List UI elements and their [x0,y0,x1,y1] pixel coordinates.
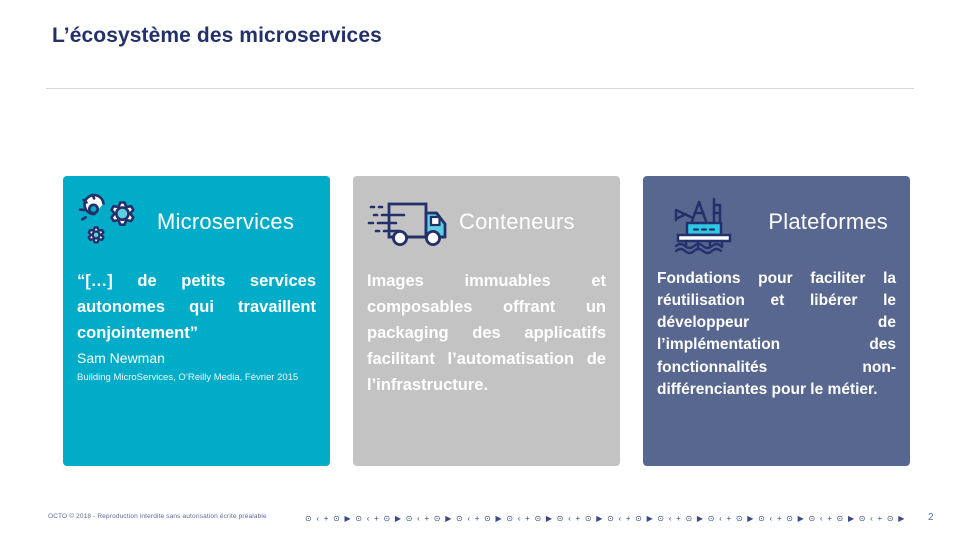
card-title-plateformes: Plateformes [768,209,888,235]
pattern-glyph: ▶ [848,515,854,523]
header-divider [46,88,914,89]
pattern-glyph: ▶ [647,515,653,523]
gears-icon [77,191,151,253]
pattern-glyph: + [727,515,732,523]
card-description: Fondations pour faciliter la réutilisati… [657,268,896,401]
pattern-glyph: ⊙ [534,515,541,523]
pattern-glyph: ‹ [417,515,420,523]
card-plateformes[interactable]: Plateformes Fondations pour faciliter la… [643,176,910,466]
pattern-glyph: ‹ [316,515,319,523]
pattern-glyph: ⊙ [333,515,340,523]
card-microservices[interactable]: Microservices “[…] de petits services au… [63,176,330,466]
page-number: 2 [928,512,934,523]
pattern-glyph: + [424,515,429,523]
pattern-glyph: ▶ [898,515,904,523]
pattern-glyph: + [525,515,530,523]
footer-decorative-pattern: ⊙‹+⊙▶⊙‹+⊙▶⊙‹+⊙▶⊙‹+⊙▶⊙‹+⊙▶⊙‹+⊙▶⊙‹+⊙▶⊙‹+⊙▶… [305,512,905,526]
pattern-glyph: ▶ [345,515,351,523]
footer-copyright: OCTO © 2018 - Reproduction interdite san… [48,513,267,520]
page-title: L’écosystème des microservices [52,24,382,48]
quote-text: “[…] de petits services autonomes qui tr… [77,268,316,346]
card-body: Images immuables et composables offrant … [353,268,620,398]
pattern-glyph: ‹ [467,515,470,523]
pattern-glyph: ‹ [669,515,672,523]
pattern-glyph: ‹ [870,515,873,523]
pattern-glyph: ⊙ [456,515,463,523]
card-header: Plateformes [643,176,910,268]
pattern-glyph: + [374,515,379,523]
pattern-glyph: ‹ [618,515,621,523]
pattern-glyph: ▶ [596,515,602,523]
pattern-glyph: ⊙ [607,515,614,523]
card-header: Conteneurs [353,176,620,268]
pattern-glyph: ⊙ [808,515,815,523]
pattern-glyph: ▶ [747,515,753,523]
pattern-glyph: ‹ [568,515,571,523]
pattern-glyph: ⊙ [837,515,844,523]
pattern-glyph: ‹ [518,515,521,523]
pattern-glyph: ⊙ [758,515,765,523]
pattern-glyph: ⊙ [557,515,564,523]
pattern-glyph: ⊙ [506,515,513,523]
pattern-glyph: + [575,515,580,523]
pattern-glyph: + [777,515,782,523]
oil-platform-icon [669,194,739,256]
card-header: Microservices [63,176,330,268]
pattern-glyph: ‹ [367,515,370,523]
pattern-glyph: + [827,515,832,523]
cards-row: Microservices “[…] de petits services au… [63,176,910,466]
pattern-glyph: ▶ [395,515,401,523]
pattern-glyph: ⊙ [635,515,642,523]
quote-author: Sam Newman [77,349,316,367]
card-title-microservices: Microservices [157,209,294,235]
pattern-glyph: ⊙ [355,515,362,523]
pattern-glyph: ⊙ [859,515,866,523]
card-conteneurs[interactable]: Conteneurs Images immuables et composabl… [353,176,620,466]
pattern-glyph: ⊙ [406,515,413,523]
pattern-glyph: ▶ [697,515,703,523]
pattern-glyph: ▶ [798,515,804,523]
card-body: Fondations pour faciliter la réutilisati… [643,268,910,401]
pattern-glyph: ⊙ [887,515,894,523]
pattern-glyph: + [626,515,631,523]
pattern-glyph: ⊙ [736,515,743,523]
pattern-glyph: ▶ [496,515,502,523]
pattern-glyph: + [324,515,329,523]
pattern-glyph: ‹ [769,515,772,523]
pattern-glyph: ⊙ [383,515,390,523]
quote-source: Building MicroServices, O’Reilly Media, … [77,371,316,385]
pattern-glyph: ‹ [719,515,722,523]
card-body: “[…] de petits services autonomes qui tr… [63,268,330,385]
pattern-glyph: ▶ [546,515,552,523]
pattern-glyph: ⊙ [434,515,441,523]
pattern-glyph: ⊙ [657,515,664,523]
card-title-conteneurs: Conteneurs [459,209,575,235]
pattern-glyph: + [475,515,480,523]
pattern-glyph: + [878,515,883,523]
pattern-glyph: + [676,515,681,523]
delivery-truck-icon [367,193,453,251]
pattern-glyph: ▶ [445,515,451,523]
pattern-glyph: ⊙ [305,515,312,523]
pattern-glyph: ⊙ [585,515,592,523]
pattern-glyph: ⊙ [686,515,693,523]
pattern-glyph: ‹ [820,515,823,523]
pattern-glyph: ⊙ [708,515,715,523]
pattern-glyph: ⊙ [786,515,793,523]
card-description: Images immuables et composables offrant … [367,268,606,398]
pattern-glyph: ⊙ [484,515,491,523]
